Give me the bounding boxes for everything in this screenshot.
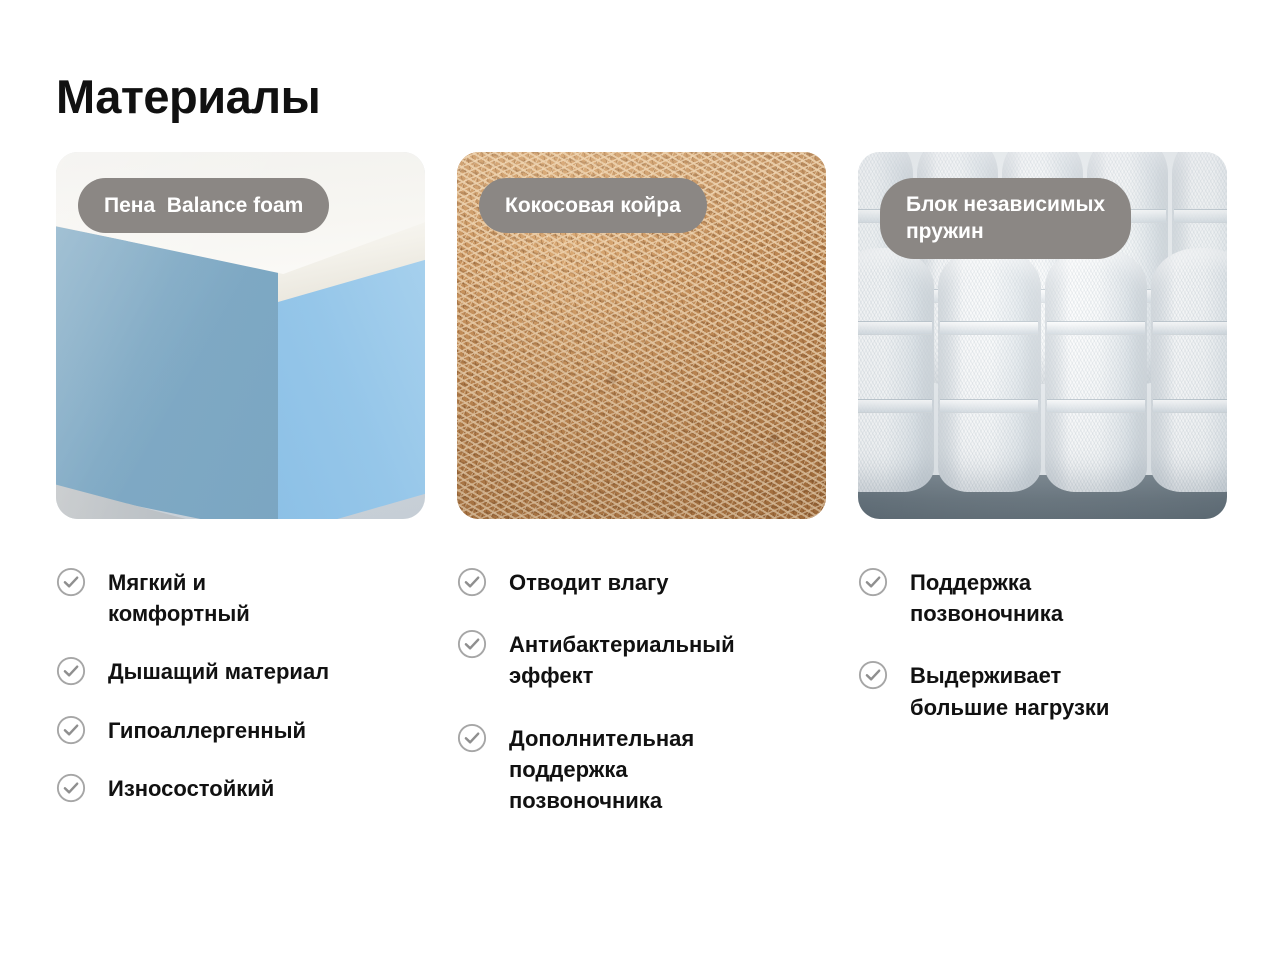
material-badge-springs: Блок независимых пружин [880, 178, 1131, 259]
spring-coil [938, 248, 1040, 492]
check-circle-icon [56, 773, 86, 803]
list-item: Мягкий и комфортный [56, 566, 425, 629]
material-column-foam: Пена Balance foam Мягкий и комфортный Ды… [56, 152, 425, 846]
check-circle-icon [56, 715, 86, 745]
list-item: Выдерживает большие нагрузки [858, 659, 1227, 722]
feature-list-foam: Мягкий и комфортный Дышащий материал Гип… [56, 566, 425, 830]
list-item: Износостойкий [56, 772, 425, 804]
spring-coil [1045, 248, 1147, 492]
feature-label: Износостойкий [102, 772, 274, 804]
list-item: Отводит влагу [457, 566, 826, 598]
list-item: Дышащий материал [56, 655, 425, 687]
feature-label: Мягкий и комфортный [102, 566, 250, 629]
page-title: Материалы [56, 72, 320, 121]
feature-list-springs: Поддержка позвоночника Выдерживает больш… [858, 566, 1227, 753]
material-badge-coir: Кокосовая койра [479, 178, 707, 233]
check-circle-icon [56, 656, 86, 686]
material-card-foam[interactable]: Пена Balance foam [56, 152, 425, 519]
spring-coil [1151, 248, 1227, 492]
feature-label: Выдерживает большие нагрузки [904, 659, 1109, 722]
check-circle-icon [858, 660, 888, 690]
material-column-springs: Блок независимых пружин Поддержка позвон… [858, 152, 1227, 846]
feature-label: Отводит влагу [503, 566, 669, 598]
material-badge-foam: Пена Balance foam [78, 178, 329, 233]
list-item: Антибактериальный эффект [457, 628, 826, 691]
feature-label: Антибактериальный эффект [503, 628, 735, 691]
springs-front-row [858, 248, 1227, 492]
material-column-coir: Кокосовая койра Отводит влагу Антибактер… [457, 152, 826, 846]
materials-columns: Пена Balance foam Мягкий и комфортный Ды… [56, 152, 1228, 846]
list-item: Поддержка позвоночника [858, 566, 1227, 629]
check-circle-icon [56, 567, 86, 597]
spring-coil [858, 248, 934, 492]
check-circle-icon [457, 567, 487, 597]
check-circle-icon [858, 567, 888, 597]
feature-label: Дополнительная поддержка позвоночника [503, 722, 694, 817]
list-item: Гипоаллергенный [56, 714, 425, 746]
material-card-springs[interactable]: Блок независимых пружин [858, 152, 1227, 519]
feature-list-coir: Отводит влагу Антибактериальный эффект Д… [457, 566, 826, 846]
feature-label: Поддержка позвоночника [904, 566, 1063, 629]
check-circle-icon [457, 723, 487, 753]
material-card-coir[interactable]: Кокосовая койра [457, 152, 826, 519]
check-circle-icon [457, 629, 487, 659]
feature-label: Гипоаллергенный [102, 714, 306, 746]
feature-label: Дышащий материал [102, 655, 329, 687]
list-item: Дополнительная поддержка позвоночника [457, 722, 826, 817]
